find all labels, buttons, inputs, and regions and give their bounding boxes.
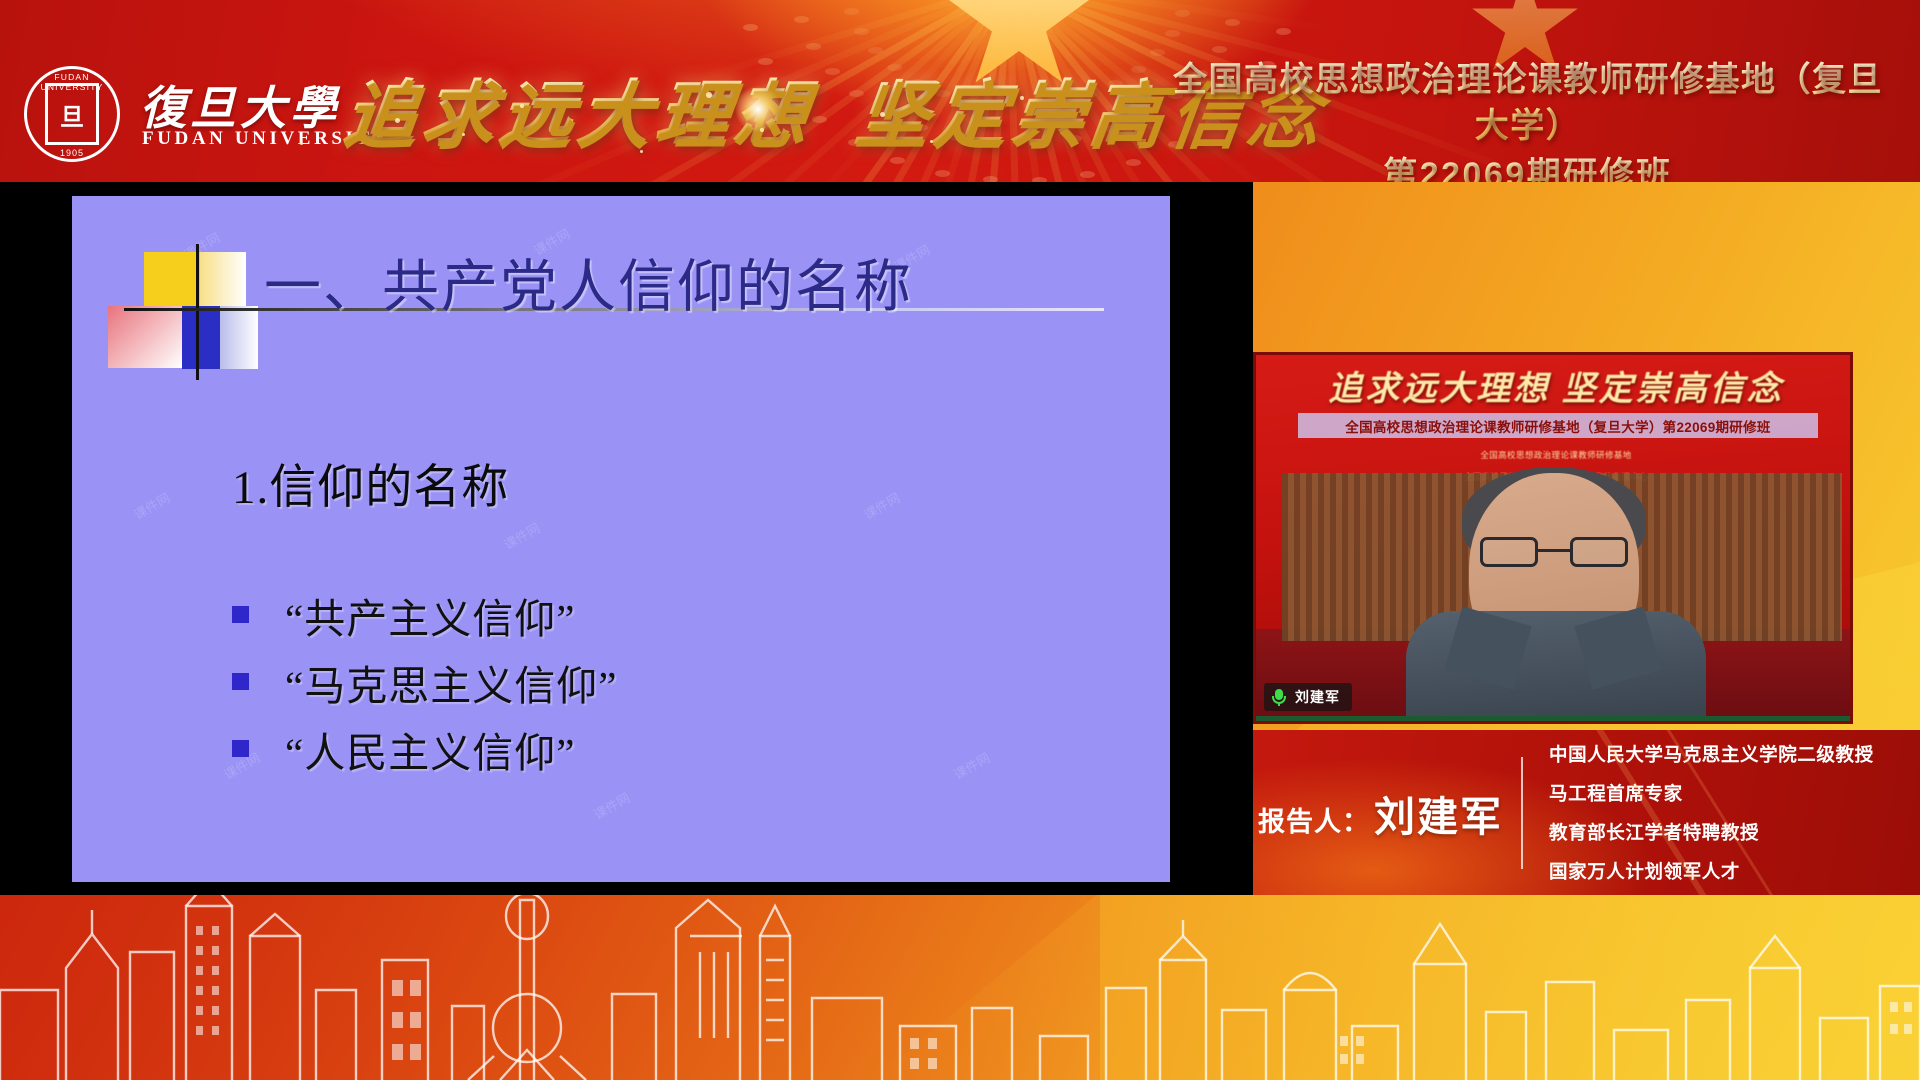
conference-banner: 旦 FUDAN UNIVERSITY 1905 復旦大學 FUDAN UNIVE…	[0, 0, 1920, 182]
list-item: “共产主义信仰”	[232, 581, 617, 648]
video-feed[interactable]: 追求远大理想 坚定崇高信念 全国高校思想政治理论课教师研修基地（复旦大学）第22…	[1256, 355, 1850, 721]
video-backdrop-title-text: 全国高校思想政治理论课教师研修基地（复旦大学）第22069期研修班	[1345, 416, 1770, 436]
slide-watermark: 课件网	[500, 518, 543, 554]
emblem-ring-text: FUDAN UNIVERSITY 1905	[25, 67, 119, 161]
speaker-credentials-list: 中国人民大学马克思主义学院二级教授 马工程首席专家 教育部长江学者特聘教授 国家…	[1523, 741, 1874, 884]
bullet-square-icon	[232, 740, 249, 757]
bullet-text: “马克思主义信仰”	[285, 652, 617, 712]
speaker-name: 刘建军	[1374, 783, 1503, 843]
slide-title: 一、共产党人信仰的名称	[264, 241, 913, 323]
banner-title-line-1: 全国高校思想政治理论课教师研修基地（复旦大学）	[1158, 58, 1898, 149]
banner-title-block: 全国高校思想政治理论课教师研修基地（复旦大学） 第22069期研修班	[1158, 58, 1898, 182]
slide-watermark: 课件网	[950, 748, 993, 784]
slide-watermark: 课件网	[590, 788, 633, 824]
emblem-top-text: FUDAN UNIVERSITY	[25, 72, 119, 92]
list-item: “马克思主义信仰”	[232, 648, 617, 715]
bullet-text: “人民主义信仰”	[285, 719, 575, 779]
speaker-info-bar: 报告人： 刘建军 中国人民大学马克思主义学院二级教授 马工程首席专家 教育部长江…	[1253, 730, 1920, 895]
slide-decorative-squares	[108, 244, 258, 369]
speaker-glasses	[1480, 537, 1628, 567]
speaker-credential: 中国人民大学马克思主义学院二级教授	[1549, 741, 1874, 767]
speaker-credential: 教育部长江学者特聘教授	[1549, 819, 1874, 845]
video-participant-name-badge: 刘建军	[1264, 683, 1352, 711]
video-backdrop-calligraphy: 追求远大理想 坚定崇高信念	[1296, 361, 1816, 410]
presentation-slide[interactable]: 课件网 课件网 课件网 课件网 课件网 课件网 课件网 课件网 课件网 一、共产…	[72, 196, 1170, 882]
emblem-year-text: 1905	[25, 148, 119, 158]
video-backdrop-subtitle: 全国高校思想政治理论课教师研修基地	[1376, 449, 1736, 461]
microphone-icon	[1270, 688, 1288, 706]
slide-bullet-list: “共产主义信仰” “马克思主义信仰” “人民主义信仰”	[232, 581, 617, 782]
slide-frame: 课件网 课件网 课件网 课件网 课件网 课件网 课件网 课件网 课件网 一、共产…	[0, 182, 1250, 895]
presentation-stage: 旦 FUDAN UNIVERSITY 1905 復旦大學 FUDAN UNIVE…	[0, 0, 1920, 1080]
slide-watermark: 课件网	[860, 488, 903, 524]
fudan-university-emblem: 旦 FUDAN UNIVERSITY 1905	[24, 66, 120, 162]
bullet-square-icon	[232, 673, 249, 690]
speaker-name-block: 报告人： 刘建军	[1253, 783, 1521, 843]
video-participant-name: 刘建军	[1295, 687, 1340, 707]
speaker-label: 报告人：	[1258, 800, 1370, 839]
video-bottom-accent-line	[1256, 716, 1850, 721]
speaker-video-panel[interactable]: 追求远大理想 坚定崇高信念 全国高校思想政治理论课教师研修基地（复旦大学）第22…	[1253, 352, 1853, 724]
video-backdrop-title-strip: 全国高校思想政治理论课教师研修基地（复旦大学）第22069期研修班	[1298, 413, 1818, 438]
banner-title-line-2: 第22069期研修班	[1158, 153, 1898, 182]
speaker-credential: 国家万人计划领军人才	[1549, 858, 1874, 884]
slide-watermark: 课件网	[130, 488, 173, 524]
calligraphy-glow	[735, 86, 781, 132]
bullet-square-icon	[232, 606, 249, 623]
slide-subtitle: 1.信仰的名称	[232, 448, 509, 517]
list-item: “人民主义信仰”	[232, 715, 617, 782]
bullet-text: “共产主义信仰”	[285, 585, 575, 645]
